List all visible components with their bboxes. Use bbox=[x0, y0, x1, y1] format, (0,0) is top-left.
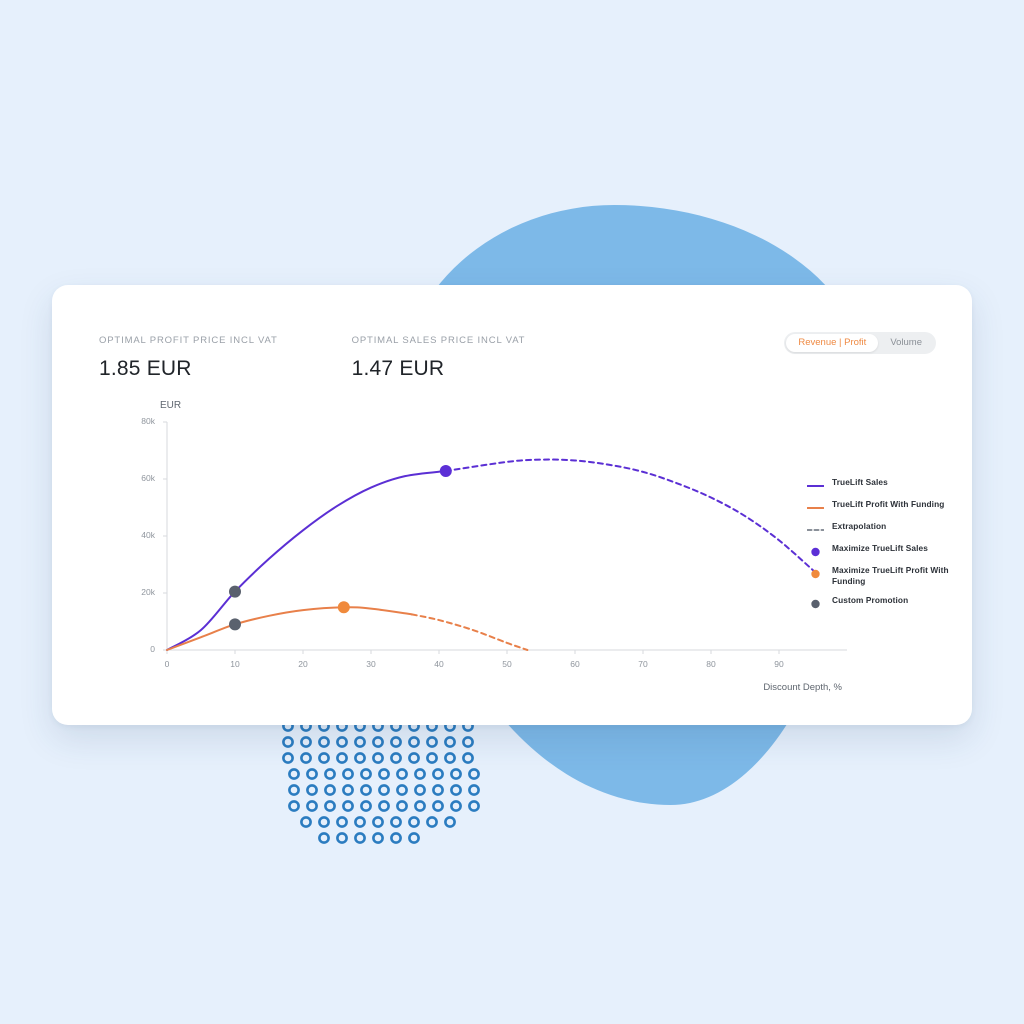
legend-label: Extrapolation bbox=[832, 521, 886, 532]
series-line bbox=[412, 614, 528, 650]
legend-item[interactable]: TrueLift Profit With Funding bbox=[807, 499, 967, 513]
metric-toggle[interactable]: Revenue | Profit Volume bbox=[784, 332, 936, 354]
x-tick-label: 70 bbox=[631, 659, 655, 669]
kpi-label: OPTIMAL SALES PRICE INCL VAT bbox=[352, 335, 526, 346]
kpi-optimal-sales-price: OPTIMAL SALES PRICE INCL VAT 1.47 EUR bbox=[352, 335, 526, 381]
legend-swatch-dashed-line-icon bbox=[807, 525, 824, 535]
kpi-group: OPTIMAL PROFIT PRICE INCL VAT 1.85 EUR O… bbox=[99, 335, 525, 381]
y-tick-label: 20k bbox=[129, 587, 155, 597]
kpi-label: OPTIMAL PROFIT PRICE INCL VAT bbox=[99, 335, 278, 346]
x-tick-label: 30 bbox=[359, 659, 383, 669]
chart-marker[interactable] bbox=[229, 586, 241, 598]
legend-label: Custom Promotion bbox=[832, 595, 908, 606]
legend-swatch-line-icon bbox=[807, 503, 824, 513]
x-tick-label: 90 bbox=[767, 659, 791, 669]
legend-item[interactable]: Maximize TrueLift Sales bbox=[807, 543, 967, 557]
y-tick-label: 0 bbox=[129, 644, 155, 654]
x-tick-label: 40 bbox=[427, 659, 451, 669]
y-axis-unit-label: EUR bbox=[160, 400, 181, 411]
kpi-optimal-profit-price: OPTIMAL PROFIT PRICE INCL VAT 1.85 EUR bbox=[99, 335, 278, 381]
chart-legend: TrueLift SalesTrueLift Profit With Fundi… bbox=[807, 477, 967, 617]
legend-swatch-dot-icon bbox=[807, 547, 824, 557]
legend-swatch-line-icon bbox=[807, 481, 824, 491]
series-line bbox=[446, 460, 813, 571]
x-tick-label: 60 bbox=[563, 659, 587, 669]
series-line bbox=[167, 471, 446, 650]
y-tick-label: 80k bbox=[129, 416, 155, 426]
toggle-option-revenue-profit[interactable]: Revenue | Profit bbox=[786, 334, 878, 352]
y-tick-label: 60k bbox=[129, 473, 155, 483]
legend-label: TrueLift Profit With Funding bbox=[832, 499, 944, 510]
x-axis-title: Discount Depth, % bbox=[682, 682, 842, 693]
y-tick-label: 40k bbox=[129, 530, 155, 540]
legend-swatch-dot-icon bbox=[807, 599, 824, 609]
legend-item[interactable]: Custom Promotion bbox=[807, 595, 967, 609]
x-tick-label: 20 bbox=[291, 659, 315, 669]
page-root: OPTIMAL PROFIT PRICE INCL VAT 1.85 EUR O… bbox=[0, 0, 1024, 1024]
kpi-value: 1.85 EUR bbox=[99, 357, 278, 381]
analytics-card: OPTIMAL PROFIT PRICE INCL VAT 1.85 EUR O… bbox=[52, 285, 972, 725]
legend-swatch-dot-icon bbox=[807, 569, 824, 579]
x-tick-label: 0 bbox=[155, 659, 179, 669]
legend-label: Maximize TrueLift Profit With Funding bbox=[832, 565, 967, 587]
legend-label: Maximize TrueLift Sales bbox=[832, 543, 928, 554]
kpi-value: 1.47 EUR bbox=[352, 357, 526, 381]
chart-marker[interactable] bbox=[338, 601, 350, 613]
toggle-option-volume[interactable]: Volume bbox=[878, 334, 934, 352]
legend-item[interactable]: TrueLift Sales bbox=[807, 477, 967, 491]
x-tick-label: 80 bbox=[699, 659, 723, 669]
x-tick-label: 10 bbox=[223, 659, 247, 669]
decorative-dot-grid bbox=[278, 718, 488, 853]
chart-marker[interactable] bbox=[440, 465, 452, 477]
x-tick-label: 50 bbox=[495, 659, 519, 669]
chart-marker[interactable] bbox=[229, 618, 241, 630]
legend-item[interactable]: Maximize TrueLift Profit With Funding bbox=[807, 565, 967, 587]
legend-item[interactable]: Extrapolation bbox=[807, 521, 967, 535]
legend-label: TrueLift Sales bbox=[832, 477, 888, 488]
